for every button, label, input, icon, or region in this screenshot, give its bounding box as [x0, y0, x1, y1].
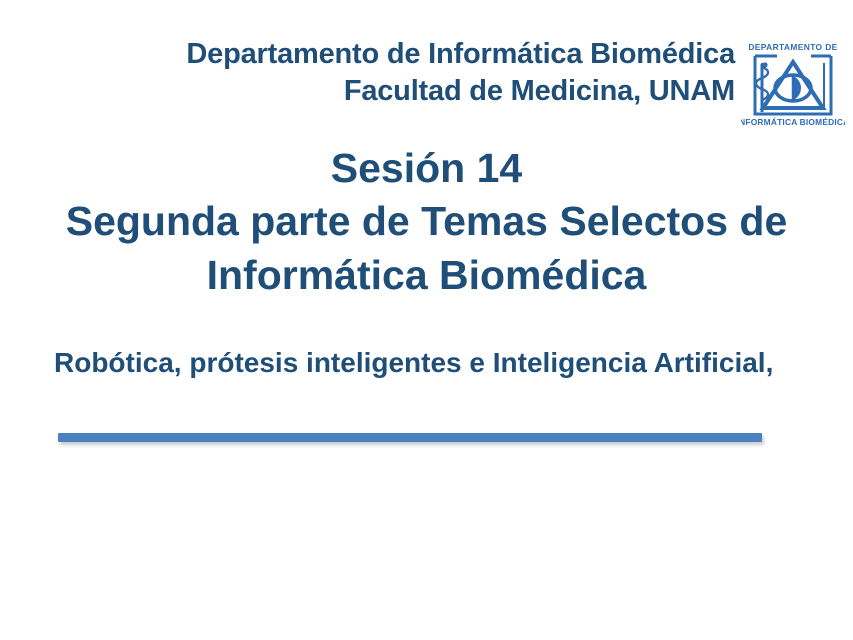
slide-subtitle: Robótica, prótesis inteligentes e Inteli… [54, 343, 784, 382]
logo-bottom-text: INFORMÁTICA BIOMÉDICA [741, 116, 845, 127]
logo-top-text: DEPARTAMENTO DE [748, 42, 837, 52]
subtitle-line-1: Robótica, prótesis inteligentes e Inteli… [54, 347, 647, 378]
header-line-department: Departamento de Informática Biomédica [60, 36, 735, 73]
department-logo: DEPARTAMENTO DE INFORMÁTICA BIOMÉDICA [741, 36, 845, 128]
title-subject-line-1: Segunda parte de Temas Selectos de [50, 195, 803, 248]
divider-bar [58, 433, 762, 442]
title-session: Sesión 14 [50, 142, 803, 195]
header-line-faculty: Facultad de Medicina, UNAM [60, 73, 735, 110]
presentation-slide: Departamento de Informática Biomédica Fa… [0, 0, 853, 640]
slide-title: Sesión 14 Segunda parte de Temas Selecto… [50, 142, 803, 302]
subtitle-line-2: Artificial, [654, 347, 774, 378]
title-subject-line-2: Informática Biomédica [50, 249, 803, 302]
slide-header: Departamento de Informática Biomédica Fa… [60, 36, 735, 111]
